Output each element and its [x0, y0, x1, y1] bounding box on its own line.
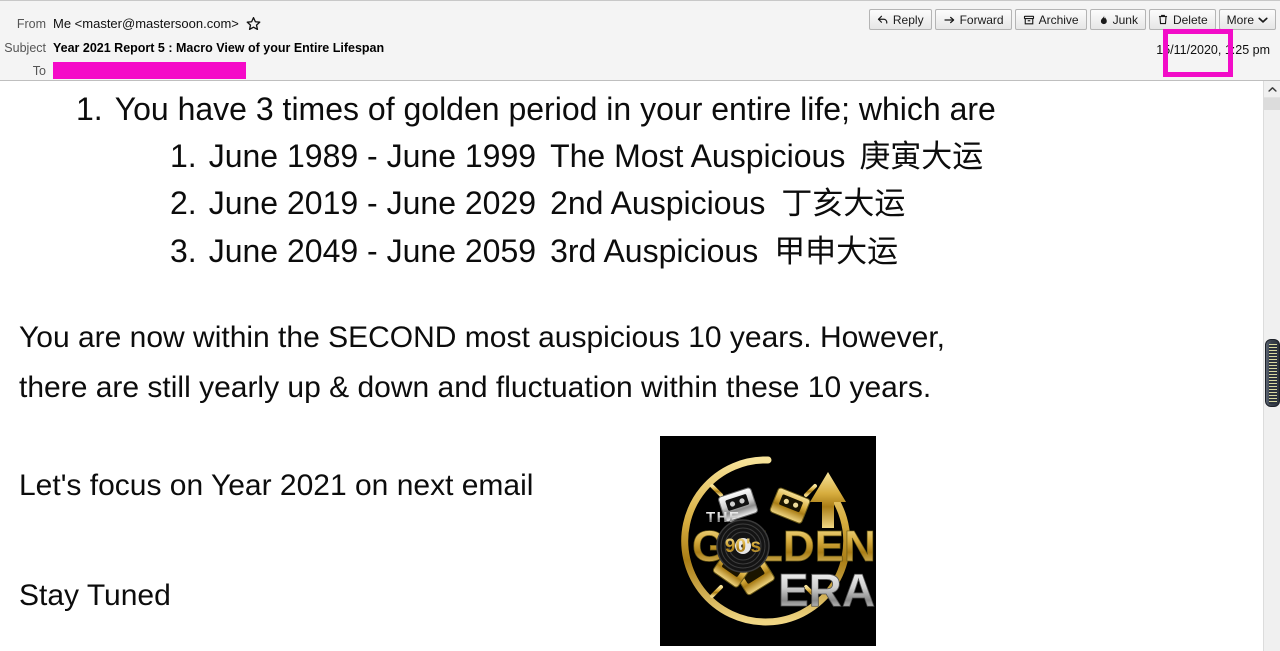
junk-button[interactable]: Junk [1090, 9, 1146, 30]
period-chinese: 甲申大运 [774, 237, 898, 269]
delete-button[interactable]: Delete [1149, 9, 1216, 30]
period-range: June 2019 - June 2029 [209, 187, 536, 220]
chevron-up-icon [1268, 80, 1277, 98]
list-item-level2: 1. June 1989 - June 1999 The Most Auspic… [0, 126, 1280, 174]
delete-label: Delete [1173, 13, 1208, 27]
logo-90s-text: 90's [725, 536, 761, 557]
scroll-up-button[interactable] [1264, 81, 1280, 98]
list-item-level2: 2. June 2019 - June 2029 2nd Auspicious … [0, 173, 1280, 221]
list-item: 1. You have 3 times of golden period in … [0, 81, 1280, 268]
paragraph-line: You are now within the SECOND most auspi… [19, 313, 1280, 363]
to-row: To [0, 60, 246, 81]
list-item-level2: 3. June 2049 - June 2059 3rd Auspicious … [0, 221, 1280, 269]
golden-era-logo-graphic: THE G LDEN 90's ERA [660, 436, 876, 646]
period-rank: 3rd Auspicious [550, 235, 758, 268]
list-item-level1: 1. You have 3 times of golden period in … [0, 81, 1280, 126]
trash-can-icon [1157, 13, 1169, 26]
the-golden-era-logo: THE G LDEN 90's ERA [660, 436, 876, 646]
from-label: From [0, 17, 46, 31]
message-content: 1. You have 3 times of golden period in … [0, 81, 1280, 620]
period-range: June 2049 - June 2059 [209, 235, 536, 268]
star-icon[interactable] [246, 16, 261, 31]
period-rank: 2nd Auspicious [550, 187, 765, 220]
paragraph-current-period: You are now within the SECOND most auspi… [0, 313, 1280, 412]
subject-text: Year 2021 Report 5 : Macro View of your … [53, 41, 384, 55]
message-toolbar: Reply Forward Archive [866, 9, 1276, 30]
junk-label: Junk [1113, 13, 1138, 27]
period-rank: The Most Auspicious [550, 140, 845, 173]
subject-label: Subject [0, 41, 46, 55]
scrollbar-thumb-grip [1269, 344, 1277, 404]
paragraph-line: there are still yearly up & down and flu… [19, 363, 1280, 413]
paragraph-next-email: Let's focus on Year 2021 on next email [0, 461, 1280, 511]
scrollbar-track-upper[interactable] [1264, 98, 1280, 110]
list-item-text: You have 3 times of golden period in you… [115, 93, 996, 126]
logo-era-text: ERA [778, 564, 875, 616]
reply-button[interactable]: Reply [869, 9, 932, 30]
vertical-scrollbar[interactable] [1263, 81, 1280, 651]
period-range: June 1989 - June 1999 [209, 140, 536, 173]
archive-box-icon [1023, 14, 1035, 26]
golden-period-list: 1. You have 3 times of golden period in … [0, 81, 1280, 268]
message-date: 15/11/2020, 1:25 pm [1156, 43, 1270, 57]
reply-label: Reply [893, 13, 924, 27]
list-marker: 3. [170, 235, 197, 268]
chevron-down-icon [1258, 16, 1268, 24]
forward-button[interactable]: Forward [935, 9, 1012, 30]
forward-arrow-icon [943, 14, 956, 26]
from-address[interactable]: Me <master@mastersoon.com> [53, 16, 239, 31]
subject-row: Subject Year 2021 Report 5 : Macro View … [0, 37, 384, 58]
period-chinese: 丁亥大运 [781, 189, 905, 221]
archive-button[interactable]: Archive [1015, 9, 1087, 30]
list-marker: 1. [170, 140, 197, 173]
period-chinese: 庚寅大运 [859, 142, 983, 174]
list-marker: 2. [170, 187, 197, 220]
more-button[interactable]: More [1219, 9, 1276, 30]
list-marker: 1. [76, 93, 103, 126]
archive-label: Archive [1039, 13, 1079, 27]
scrollbar-thumb[interactable] [1265, 339, 1280, 407]
paragraph-stay-tuned: Stay Tuned [0, 571, 1280, 621]
from-row: From Me <master@mastersoon.com> [0, 13, 261, 34]
junk-fire-icon [1098, 14, 1109, 26]
to-recipient-redacted [53, 62, 246, 79]
to-label: To [0, 64, 46, 78]
message-body-pane: 1. You have 3 times of golden period in … [0, 81, 1280, 651]
email-header-pane: From Me <master@mastersoon.com> Subject … [0, 0, 1280, 81]
more-label: More [1227, 13, 1254, 27]
reply-arrow-icon [877, 14, 889, 26]
forward-label: Forward [960, 13, 1004, 27]
